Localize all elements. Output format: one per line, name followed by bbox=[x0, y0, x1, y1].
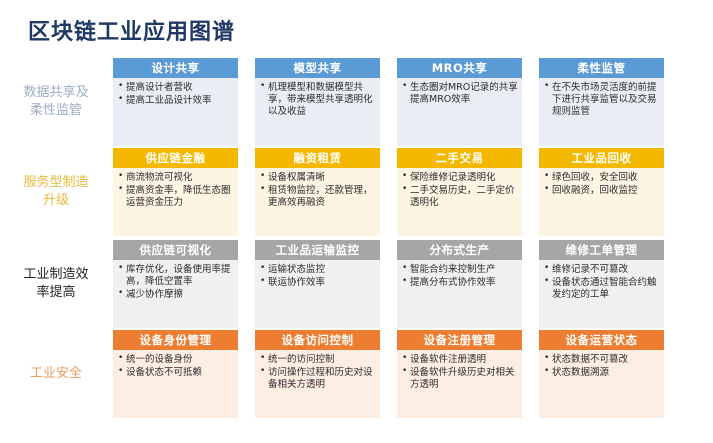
card-title: 设备运营状态 bbox=[539, 330, 664, 350]
card-title: 设备身份管理 bbox=[113, 330, 238, 350]
card-body: 库存优化，设备使用率提高，降低空置率 减少协作摩擦 bbox=[113, 260, 238, 328]
card-flexible-regulation[interactable]: 柔性监管 在不失市场灵活度的前提下进行共享监管以及交易规则监管 bbox=[539, 58, 664, 146]
card-industrial-recycling[interactable]: 工业品回收 绿色回收，安全回收 回收融资，回收监控 bbox=[539, 148, 664, 236]
card-title: 供应链金融 bbox=[113, 148, 238, 168]
row-label-industrial-security: 工业安全 bbox=[6, 330, 106, 418]
card-bullet: 设备软件注册透明 bbox=[402, 354, 518, 366]
card-bullet: 提高设计者营收 bbox=[118, 82, 234, 94]
row-cards: 供应链金融 商流物流可视化 提高资金率，降低生态圈运营资金压力 融资租赁 设备权… bbox=[113, 148, 691, 236]
card-bullet: 统一的设备身份 bbox=[118, 354, 234, 366]
card-device-identity[interactable]: 设备身份管理 统一的设备身份 设备状态不可抵赖 bbox=[113, 330, 238, 418]
card-model-sharing[interactable]: 模型共享 机理模型和数据模型共享，带来模型共享透明化以及收益 bbox=[255, 58, 380, 146]
card-bullet: 维修记录不可篡改 bbox=[544, 264, 660, 276]
row-label-line1: 工业安全 bbox=[30, 365, 82, 383]
row-cards: 设备身份管理 统一的设备身份 设备状态不可抵赖 设备访问控制 统一的访问控制 访… bbox=[113, 330, 691, 418]
card-body: 统一的访问控制 访问操作过程和历史对设备相关方透明 bbox=[255, 350, 380, 418]
card-body: 保险维修记录透明化 二手交易历史，二手定价透明化 bbox=[397, 168, 522, 236]
card-title: 设计共享 bbox=[113, 58, 238, 78]
matrix-row-service-manufacturing: 服务型制造 升级 供应链金融 商流物流可视化 提高资金率，降低生态圈运营资金压力… bbox=[0, 148, 713, 236]
card-secondhand-trading[interactable]: 二手交易 保险维修记录透明化 二手交易历史，二手定价透明化 bbox=[397, 148, 522, 236]
card-bullet: 保险维修记录透明化 bbox=[402, 172, 518, 184]
card-body: 在不失市场灵活度的前提下进行共享监管以及交易规则监管 bbox=[539, 78, 664, 146]
card-bullet: 设备状态通过智能合约触发约定的工单 bbox=[544, 277, 660, 301]
page-title: 区块链工业应用图谱 bbox=[28, 14, 235, 46]
card-title: 柔性监管 bbox=[539, 58, 664, 78]
card-distributed-production[interactable]: 分布式生产 智能合约来控制生产 提高分布式协作效率 bbox=[397, 240, 522, 328]
card-maintenance-workorder[interactable]: 维修工单管理 维修记录不可篡改 设备状态通过智能合约触发约定的工单 bbox=[539, 240, 664, 328]
card-title: 工业品回收 bbox=[539, 148, 664, 168]
card-title: 设备访问控制 bbox=[255, 330, 380, 350]
card-body: 维修记录不可篡改 设备状态通过智能合约触发约定的工单 bbox=[539, 260, 664, 328]
card-bullet: 提高工业品设计效率 bbox=[118, 95, 234, 107]
row-label-line2: 柔性监管 bbox=[30, 103, 82, 118]
card-body: 设备权属清晰 租赁物监控，还款管理，更高效再融资 bbox=[255, 168, 380, 236]
card-body: 运输状态监控 联运协作效率 bbox=[255, 260, 380, 328]
card-body: 商流物流可视化 提高资金率，降低生态圈运营资金压力 bbox=[113, 168, 238, 236]
row-label-line1: 服务型制造 bbox=[23, 175, 88, 190]
card-bullet: 提高资金率，降低生态圈运营资金压力 bbox=[118, 185, 234, 209]
card-financial-leasing[interactable]: 融资租赁 设备权属清晰 租赁物监控，还款管理，更高效再融资 bbox=[255, 148, 380, 236]
row-cards: 设计共享 提高设计者营收 提高工业品设计效率 模型共享 机理模型和数据模型共享，… bbox=[113, 58, 691, 146]
card-bullet: 生态圈对MRO记录的共享提高MRO效率 bbox=[402, 82, 518, 106]
card-bullet: 联运协作效率 bbox=[260, 277, 376, 289]
card-device-access-control[interactable]: 设备访问控制 统一的访问控制 访问操作过程和历史对设备相关方透明 bbox=[255, 330, 380, 418]
card-bullet: 状态数据溯源 bbox=[544, 367, 660, 379]
card-supply-chain-finance[interactable]: 供应链金融 商流物流可视化 提高资金率，降低生态圈运营资金压力 bbox=[113, 148, 238, 236]
card-bullet: 状态数据不可篡改 bbox=[544, 354, 660, 366]
card-title: 融资租赁 bbox=[255, 148, 380, 168]
card-bullet: 减少协作摩擦 bbox=[118, 289, 234, 301]
card-body: 智能合约来控制生产 提高分布式协作效率 bbox=[397, 260, 522, 328]
card-body: 状态数据不可篡改 状态数据溯源 bbox=[539, 350, 664, 418]
card-bullet: 访问操作过程和历史对设备相关方透明 bbox=[260, 367, 376, 391]
card-title: 分布式生产 bbox=[397, 240, 522, 260]
row-label-line2: 率提高 bbox=[36, 285, 75, 300]
card-bullet: 二手交易历史，二手定价透明化 bbox=[402, 185, 518, 209]
card-bullet: 设备权属清晰 bbox=[260, 172, 376, 184]
matrix-row-manufacturing-efficiency: 工业制造效 率提高 供应链可视化 库存优化，设备使用率提高，降低空置率 减少协作… bbox=[0, 240, 713, 328]
card-bullet: 设备软件升级历史对相关方透明 bbox=[402, 367, 518, 391]
card-body: 绿色回收，安全回收 回收融资，回收监控 bbox=[539, 168, 664, 236]
matrix-row-data-sharing: 数据共享及 柔性监管 设计共享 提高设计者营收 提高工业品设计效率 模型共享 机… bbox=[0, 58, 713, 146]
card-device-operation-status[interactable]: 设备运营状态 状态数据不可篡改 状态数据溯源 bbox=[539, 330, 664, 418]
card-body: 统一的设备身份 设备状态不可抵赖 bbox=[113, 350, 238, 418]
card-bullet: 机理模型和数据模型共享，带来模型共享透明化以及收益 bbox=[260, 82, 376, 118]
card-mro-sharing[interactable]: MRO共享 生态圈对MRO记录的共享提高MRO效率 bbox=[397, 58, 522, 146]
card-body: 生态圈对MRO记录的共享提高MRO效率 bbox=[397, 78, 522, 146]
row-label-line1: 数据共享及 bbox=[23, 85, 88, 100]
card-bullet: 设备状态不可抵赖 bbox=[118, 367, 234, 379]
card-bullet: 租赁物监控，还款管理，更高效再融资 bbox=[260, 185, 376, 209]
card-title: MRO共享 bbox=[397, 58, 522, 78]
row-label-line2: 升级 bbox=[43, 193, 69, 208]
row-label-service-manufacturing: 服务型制造 升级 bbox=[6, 148, 106, 236]
card-body: 机理模型和数据模型共享，带来模型共享透明化以及收益 bbox=[255, 78, 380, 146]
card-bullet: 库存优化，设备使用率提高，降低空置率 bbox=[118, 264, 234, 288]
card-bullet: 在不失市场灵活度的前提下进行共享监管以及交易规则监管 bbox=[544, 82, 660, 118]
row-label-line1: 工业制造效 bbox=[23, 267, 88, 282]
row-label-manufacturing-efficiency: 工业制造效 率提高 bbox=[6, 240, 106, 328]
card-supply-chain-visibility[interactable]: 供应链可视化 库存优化，设备使用率提高，降低空置率 减少协作摩擦 bbox=[113, 240, 238, 328]
card-body: 设备软件注册透明 设备软件升级历史对相关方透明 bbox=[397, 350, 522, 418]
card-bullet: 智能合约来控制生产 bbox=[402, 264, 518, 276]
card-title: 工业品运输监控 bbox=[255, 240, 380, 260]
matrix-row-industrial-security: 工业安全 设备身份管理 统一的设备身份 设备状态不可抵赖 设备访问控制 统一的访… bbox=[0, 330, 713, 418]
card-bullet: 绿色回收，安全回收 bbox=[544, 172, 660, 184]
card-title: 模型共享 bbox=[255, 58, 380, 78]
card-design-sharing[interactable]: 设计共享 提高设计者营收 提高工业品设计效率 bbox=[113, 58, 238, 146]
card-device-registration[interactable]: 设备注册管理 设备软件注册透明 设备软件升级历史对相关方透明 bbox=[397, 330, 522, 418]
row-cards: 供应链可视化 库存优化，设备使用率提高，降低空置率 减少协作摩擦 工业品运输监控… bbox=[113, 240, 691, 328]
card-bullet: 运输状态监控 bbox=[260, 264, 376, 276]
card-body: 提高设计者营收 提高工业品设计效率 bbox=[113, 78, 238, 146]
card-bullet: 统一的访问控制 bbox=[260, 354, 376, 366]
card-bullet: 提高分布式协作效率 bbox=[402, 277, 518, 289]
card-bullet: 商流物流可视化 bbox=[118, 172, 234, 184]
application-matrix: 数据共享及 柔性监管 设计共享 提高设计者营收 提高工业品设计效率 模型共享 机… bbox=[0, 58, 713, 438]
card-bullet: 回收融资，回收监控 bbox=[544, 185, 660, 197]
card-transport-monitoring[interactable]: 工业品运输监控 运输状态监控 联运协作效率 bbox=[255, 240, 380, 328]
card-title: 二手交易 bbox=[397, 148, 522, 168]
card-title: 供应链可视化 bbox=[113, 240, 238, 260]
card-title: 维修工单管理 bbox=[539, 240, 664, 260]
card-title: 设备注册管理 bbox=[397, 330, 522, 350]
row-label-data-sharing: 数据共享及 柔性监管 bbox=[6, 58, 106, 146]
